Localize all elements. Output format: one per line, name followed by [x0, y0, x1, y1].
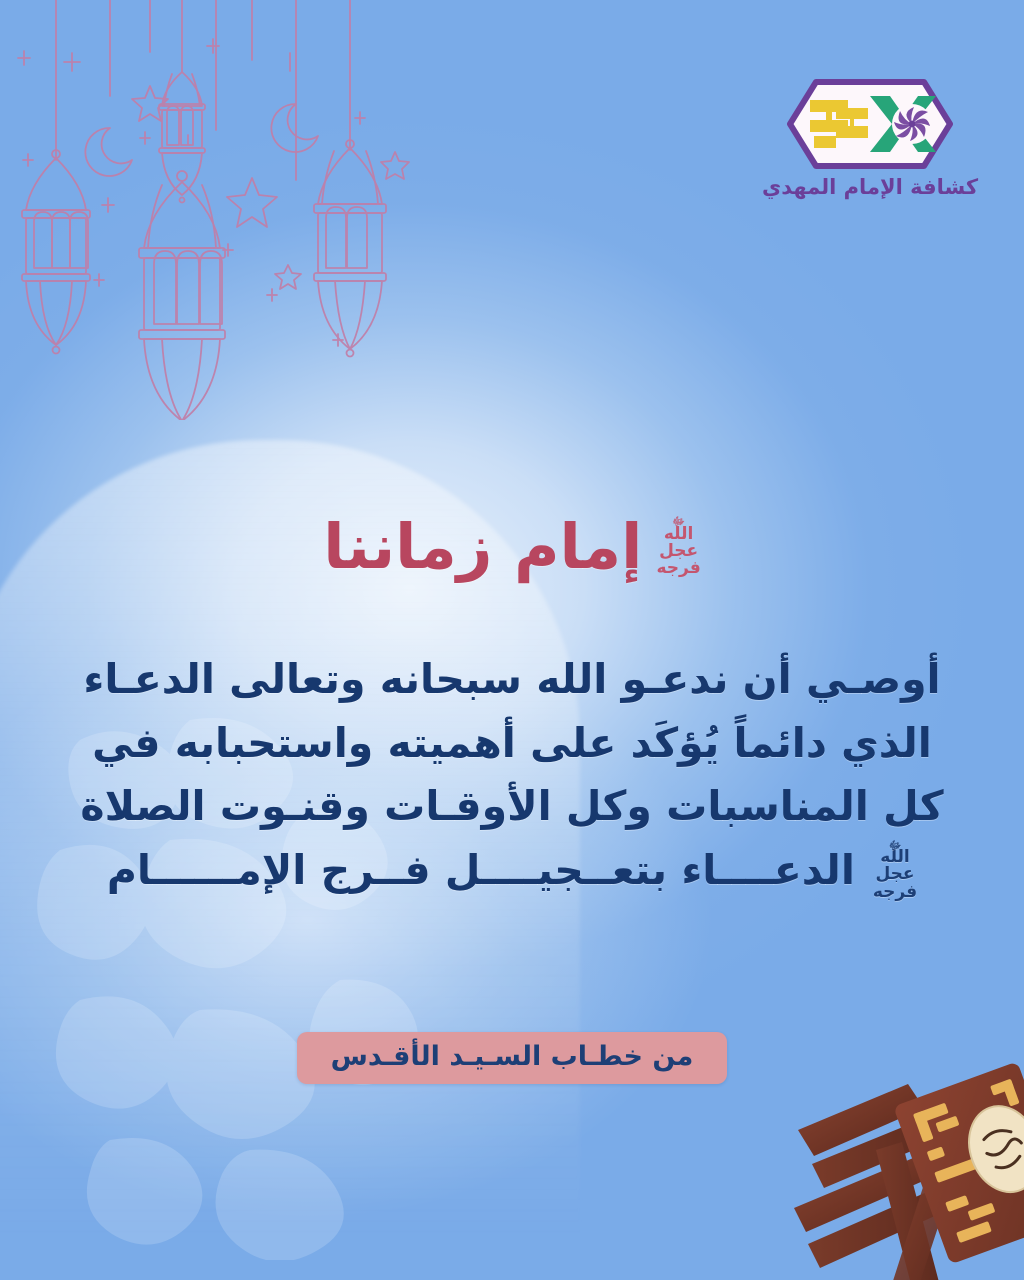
quote-line-1: أوصـي أن ندعـو الله سبحانه وتعالى الدعـا… [52, 648, 972, 712]
quote-line-2: الذي دائماً يُؤكَد على أهميته واستحبابه … [52, 712, 972, 776]
organization-name: كشافة الإمام المهدي [740, 176, 1000, 199]
quote-line-4-row: الدعــــاء بتعــجيــــل فــرج الإمــــــ… [52, 839, 972, 903]
emblem-line-farajahu: فرجه [873, 884, 917, 901]
page-title: إمام زماننا [323, 516, 642, 578]
attribution-badge: من خطـاب السـيـد الأقـدس [297, 1032, 728, 1084]
poster-title-row: إمام زماننا ﷻ الله عجل فرجه [0, 516, 1024, 578]
quote-line-3: كل المناسبات وكل الأوقـات وقنـوت الصلاة [52, 775, 972, 839]
quote-block: أوصـي أن ندعـو الله سبحانه وتعالى الدعـا… [52, 648, 972, 902]
ajjalallahu-farajahu-emblem-rose: ﷻ الله عجل فرجه [656, 516, 700, 577]
quote-line-4: الدعــــاء بتعــجيــــل فــرج الإمــــــ… [107, 839, 855, 903]
ramadan-lantern-ornament [0, 0, 420, 420]
emblem-diacritic: ﷻ [889, 840, 901, 851]
emblem-diacritic: ﷻ [672, 516, 684, 527]
emblem-line-farajahu: فرجه [656, 560, 700, 577]
ajjalallahu-farajahu-emblem-navy: ﷻ الله عجل فرجه [873, 840, 917, 901]
poster-canvas: كشافة الإمام المهدي إمام زماننا ﷻ الله ع… [0, 0, 1024, 1280]
organization-logo: كشافة الإمام المهدي [740, 78, 1000, 199]
scouts-logo-icon [786, 78, 954, 170]
quran-on-wooden-stand-icon [790, 1038, 1024, 1280]
